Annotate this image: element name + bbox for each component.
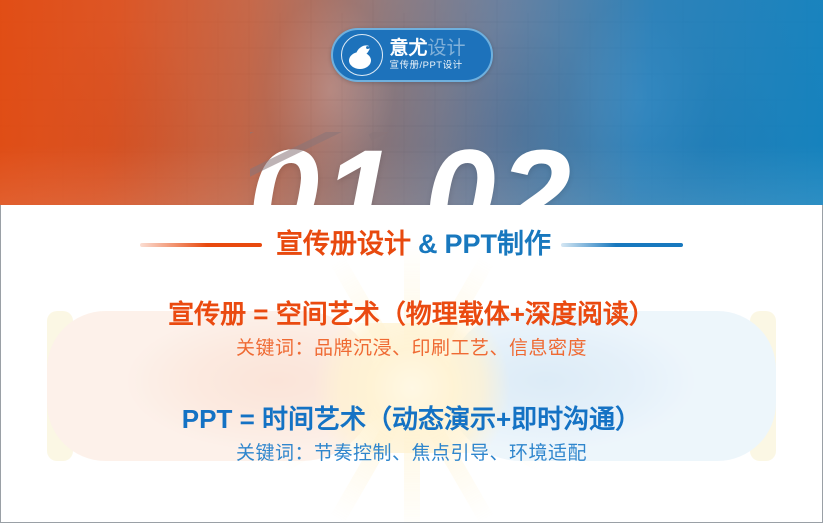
logo-text-group: 意尤设计 宣传册/PPT设计: [390, 39, 466, 71]
header-banner: 0102 意尤设计 宣传册/PPT设计: [0, 0, 823, 205]
brand-logo[interactable]: 意尤设计 宣传册/PPT设计: [331, 28, 493, 82]
ppt-keywords: 关键词：节奏控制、焦点引导、环境适配: [1, 443, 822, 466]
statement-block-ppt: PPT = 时间艺术（动态演示+即时沟通） 关键词：节奏控制、焦点引导、环境适配: [1, 405, 822, 466]
logo-title-faint: 设计: [428, 38, 466, 59]
big-number-02: 02: [425, 124, 575, 205]
headline-rule-right: [561, 243, 683, 247]
logo-subtitle: 宣传册/PPT设计: [390, 61, 466, 71]
fist-bump-watermark: [1, 253, 822, 523]
brochure-keywords: 关键词：品牌沉浸、印刷工艺、信息密度: [1, 338, 822, 361]
headline-left-text: 宣传册设计: [276, 231, 411, 258]
logo-title: 意尤设计: [390, 39, 466, 58]
headline-right-text: PPT制作: [444, 231, 551, 258]
content-area: 宣传册设计 & PPT制作 宣传册 = 空间艺术（物理载体+深度阅读） 关键词：…: [0, 205, 823, 523]
brochure-statement: 宣传册 = 空间艺术（物理载体+深度阅读）: [1, 300, 822, 330]
big-number-01: 01: [248, 124, 398, 205]
ppt-statement: PPT = 时间艺术（动态演示+即时沟通）: [1, 405, 822, 435]
statement-block-brochure: 宣传册 = 空间艺术（物理载体+深度阅读） 关键词：品牌沉浸、印刷工艺、信息密度: [1, 300, 822, 361]
headline-rule-left: [140, 243, 262, 247]
big-numbers: 0102: [0, 132, 823, 205]
section-headline: 宣传册设计 & PPT制作: [1, 231, 822, 258]
headline-ampersand: &: [411, 231, 445, 258]
slide-canvas: 0102 意尤设计 宣传册/PPT设计: [0, 0, 823, 523]
logo-title-strong: 意尤: [390, 38, 428, 59]
dove-in-circle-icon: [341, 34, 383, 76]
